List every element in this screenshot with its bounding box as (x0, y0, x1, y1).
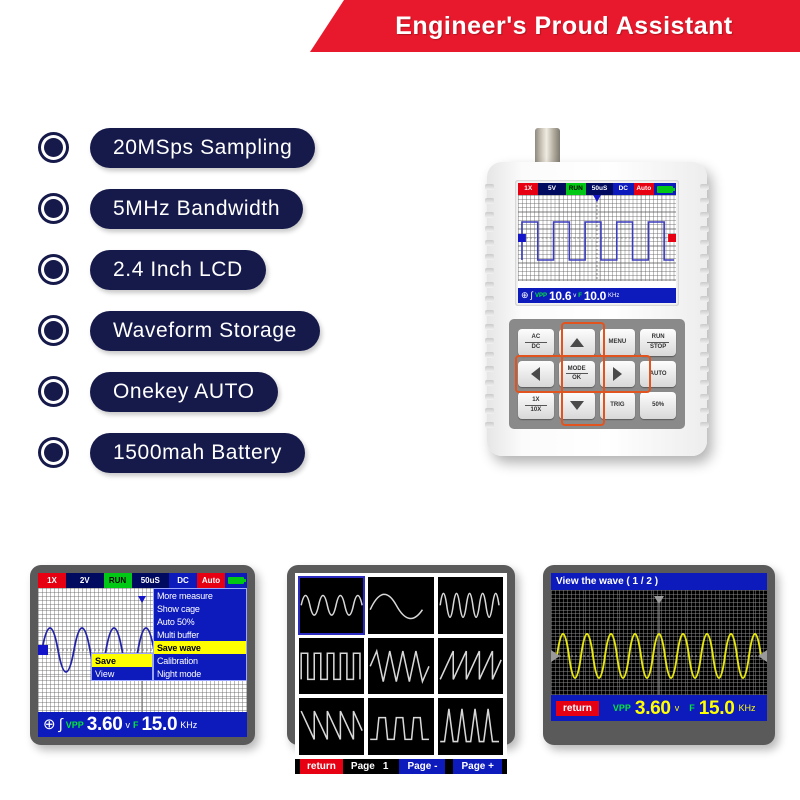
key-menu[interactable]: MENU (600, 329, 636, 356)
device-screen: 1X5VRUN50uSDCAuto ⊕ (518, 183, 676, 303)
return-button[interactable]: return (556, 701, 599, 716)
grip-ridge (700, 254, 709, 260)
thumb-pulse-round[interactable] (368, 698, 433, 755)
status-auto: Auto (197, 573, 225, 588)
bullet-ring-icon (38, 193, 69, 224)
menu-item[interactable]: Night mode (154, 667, 246, 680)
arrow-left-icon (531, 367, 540, 381)
channel-marker-icon (518, 234, 526, 242)
grip-ridge (485, 310, 494, 316)
panel3-waveform-plot: return VPP 3.60 v F 15.0 KHz (551, 590, 767, 721)
grip-ridge (485, 380, 494, 386)
key-mode-ok[interactable]: MODEOK (559, 361, 595, 388)
panel3-title: View the wave ( 1 / 2 ) (551, 573, 767, 590)
vpp-label: VPP (66, 720, 84, 730)
bullet-ring-icon (38, 254, 69, 285)
waveform-thumbnail-grid (295, 573, 507, 759)
battery-icon (654, 183, 676, 195)
key-50-percent[interactable]: 50% (640, 392, 676, 419)
battery-icon (225, 573, 247, 588)
grip-ridge (485, 282, 494, 288)
feature-pill: 5MHz Bandwidth (90, 189, 303, 229)
panel2-screen: return Page 1 Page - Page + (295, 573, 507, 737)
grip-ridge (700, 282, 709, 288)
status-run: RUN (104, 573, 132, 588)
grip-ridge (485, 254, 494, 260)
menu-item[interactable]: Save (92, 654, 152, 667)
grip-ridge (700, 324, 709, 330)
panel3-screen: View the wave ( 1 / 2 ) return VPP 3.60 … (551, 573, 767, 737)
freq-label: F (578, 293, 582, 299)
grip-ridge (485, 338, 494, 344)
status-1x: 1X (518, 183, 538, 195)
panel1-sub-menu[interactable]: SaveView (91, 653, 153, 681)
crosshair-icon: ⊕ (43, 717, 56, 732)
trigger-marker-icon (138, 596, 146, 603)
grip-ridge (700, 198, 709, 204)
arrow-up-icon (570, 338, 584, 347)
grip-ridges-right (700, 184, 709, 434)
page-number: 1 (383, 761, 389, 772)
vpp-unit: v (125, 720, 130, 730)
status-50us: 50uS (586, 183, 613, 195)
crosshair-icon: ⊕ (521, 291, 529, 300)
grip-ridge (700, 394, 709, 400)
key-up[interactable] (559, 329, 595, 356)
thumb-sine-tall[interactable] (438, 577, 503, 634)
grip-ridge (485, 198, 494, 204)
vpp-unit: v (675, 703, 680, 713)
grip-ridge (485, 268, 494, 274)
key-right[interactable] (600, 361, 636, 388)
vpp-label: VPP (535, 293, 547, 299)
grip-ridge (485, 422, 494, 428)
grip-ridge (700, 268, 709, 274)
status-5v: 5V (538, 183, 565, 195)
bullet-ring-icon (38, 315, 69, 346)
feature-item: Onekey AUTO (38, 370, 438, 413)
device-keypad: ACDCMENURUNSTOPMODEOKAUTO1X10XTRIG50% (509, 319, 685, 429)
device-measure-bar: ⊕ ∫ VPP 10.6 v F 10.0 KHz (518, 288, 676, 303)
thumb-sine-dense[interactable] (299, 577, 364, 634)
grip-ridge (700, 226, 709, 232)
feature-pill: 2.4 Inch LCD (90, 250, 266, 290)
thumb-triangle[interactable] (368, 638, 433, 695)
arrow-down-icon (570, 401, 584, 410)
feature-pill: Onekey AUTO (90, 372, 278, 412)
freq-label: F (133, 720, 139, 730)
grip-ridge (485, 296, 494, 302)
square-wave-trace (518, 195, 676, 281)
channel-marker-icon (551, 650, 560, 662)
status-1x: 1X (38, 573, 66, 588)
page-prev-button[interactable]: Page - (399, 759, 445, 774)
trigger-level-marker-icon (668, 234, 676, 242)
sine-wave-icon: ∫ (59, 717, 63, 732)
oscilloscope-device: 1X5VRUN50uSDCAuto ⊕ (487, 128, 727, 458)
freq-unit: KHz (180, 720, 197, 730)
status-run: RUN (566, 183, 586, 195)
bullet-ring-icon (38, 132, 69, 163)
grip-ridge (700, 184, 709, 190)
device-status-bar: 1X5VRUN50uSDCAuto (518, 183, 676, 195)
trigger-marker-icon (654, 596, 664, 604)
freq-unit: KHz (738, 703, 755, 713)
vpp-label: VPP (613, 703, 631, 713)
feature-pill: 1500mah Battery (90, 433, 305, 473)
key-1x-10x[interactable]: 1X10X (518, 392, 554, 419)
grip-ridge (700, 366, 709, 372)
feature-pill: 20MSps Sampling (90, 128, 315, 168)
panel1-waveform-plot: More measureShow cageAuto 50%Multi buffe… (38, 588, 247, 712)
bullet-ring-icon (38, 437, 69, 468)
menu-item[interactable]: Multi buffer (154, 628, 246, 641)
feature-item: 5MHz Bandwidth (38, 187, 438, 230)
freq-value: 10.0 (584, 290, 606, 302)
grip-ridge (485, 408, 494, 414)
device-body: 1X5VRUN50uSDCAuto ⊕ (487, 162, 707, 456)
grip-ridge (485, 212, 494, 218)
feature-list: 20MSps Sampling5MHz Bandwidth2.4 Inch LC… (38, 126, 438, 492)
key-auto[interactable]: AUTO (640, 361, 676, 388)
freq-label: F (689, 703, 695, 713)
grip-ridge (485, 226, 494, 232)
return-button[interactable]: return (300, 759, 343, 774)
feature-label: 5MHz Bandwidth (113, 197, 280, 221)
feature-item: 20MSps Sampling (38, 126, 438, 169)
status-auto: Auto (634, 183, 654, 195)
trigger-marker-icon (593, 195, 601, 202)
panel1-screen: 1X2VRUN50uSDCAuto More measureShow cageA… (38, 573, 247, 737)
grip-ridge (700, 212, 709, 218)
grip-ridge (700, 380, 709, 386)
grip-ridge (700, 240, 709, 246)
key-left[interactable] (518, 361, 554, 388)
panel1-status-bar: 1X2VRUN50uSDCAuto (38, 573, 247, 588)
status-50us: 50uS (132, 573, 170, 588)
key-ac-dc[interactable]: ACDC (518, 329, 554, 356)
screenshot-panel-gallery: return Page 1 Page - Page + (287, 565, 515, 745)
menu-item[interactable]: More measure (154, 589, 246, 602)
product-infographic: Engineer's Proud Assistant 20MSps Sampli… (0, 0, 800, 800)
menu-item[interactable]: Auto 50% (154, 615, 246, 628)
square-wave-icon: ∫ (531, 291, 533, 300)
channel-marker-icon (38, 645, 48, 655)
thumb-sawtooth-fall[interactable] (299, 698, 364, 755)
grip-ridge (485, 366, 494, 372)
header-banner: Engineer's Proud Assistant (310, 0, 800, 52)
arrow-right-icon (613, 367, 622, 381)
trigger-level-marker-icon (758, 650, 767, 662)
feature-label: Waveform Storage (113, 319, 297, 343)
key-trig[interactable]: TRIG (600, 392, 636, 419)
vpp-value: 3.60 (87, 715, 123, 734)
feature-label: 2.4 Inch LCD (113, 258, 243, 282)
device-waveform-plot (518, 195, 676, 281)
status-dc: DC (613, 183, 633, 195)
vpp-value: 3.60 (635, 699, 671, 718)
gallery-toolbar: return Page 1 Page - Page + (295, 759, 507, 774)
freq-value: 15.0 (699, 699, 735, 718)
freq-value: 15.0 (141, 715, 177, 734)
grip-ridge (700, 338, 709, 344)
grip-ridge (485, 184, 494, 190)
thumb-sine-slow[interactable] (368, 577, 433, 634)
feature-label: Onekey AUTO (113, 380, 255, 404)
screenshot-panel-view-wave: View the wave ( 1 / 2 ) return VPP 3.60 … (543, 565, 775, 745)
menu-item[interactable]: Show cage (154, 602, 246, 615)
key-run-stop[interactable]: RUNSTOP (640, 329, 676, 356)
vpp-value: 10.6 (549, 290, 571, 302)
panel1-main-menu[interactable]: More measureShow cageAuto 50%Multi buffe… (153, 588, 247, 681)
panel1-measure-bar: ⊕ ∫ VPP 3.60 v F 15.0 KHz (38, 712, 247, 737)
thumb-pulse-spike[interactable] (438, 698, 503, 755)
grip-ridge (700, 310, 709, 316)
grip-ridges-left (485, 184, 494, 434)
banner-title: Engineer's Proud Assistant (377, 12, 733, 41)
grip-ridge (700, 408, 709, 414)
page-label: Page (351, 761, 375, 772)
grip-ridge (485, 324, 494, 330)
menu-item[interactable]: Calibration (154, 654, 246, 667)
grip-ridge (700, 422, 709, 428)
feature-label: 1500mah Battery (113, 441, 282, 465)
page-next-button[interactable]: Page + (453, 759, 502, 774)
grip-ridge (700, 296, 709, 302)
grip-ridge (485, 394, 494, 400)
feature-pill: Waveform Storage (90, 311, 320, 351)
freq-unit: KHz (608, 293, 619, 299)
panel3-measure-bar: return VPP 3.60 v F 15.0 KHz (551, 695, 767, 721)
feature-item: 2.4 Inch LCD (38, 248, 438, 291)
grip-ridge (700, 352, 709, 358)
screenshot-panel-menu: 1X2VRUN50uSDCAuto More measureShow cageA… (30, 565, 255, 745)
status-dc: DC (169, 573, 197, 588)
thumb-square[interactable] (299, 638, 364, 695)
grip-ridge (485, 352, 494, 358)
menu-item[interactable]: View (92, 667, 152, 680)
feature-item: 1500mah Battery (38, 431, 438, 474)
feature-item: Waveform Storage (38, 309, 438, 352)
thumb-sawtooth-rise[interactable] (438, 638, 503, 695)
menu-item[interactable]: Save wave (154, 641, 246, 654)
device-screen-bezel: 1X5VRUN50uSDCAuto ⊕ (515, 180, 679, 306)
vpp-unit: v (573, 293, 576, 299)
status-2v: 2V (66, 573, 104, 588)
grip-ridge (485, 240, 494, 246)
feature-label: 20MSps Sampling (113, 136, 292, 160)
bullet-ring-icon (38, 376, 69, 407)
key-down[interactable] (559, 392, 595, 419)
